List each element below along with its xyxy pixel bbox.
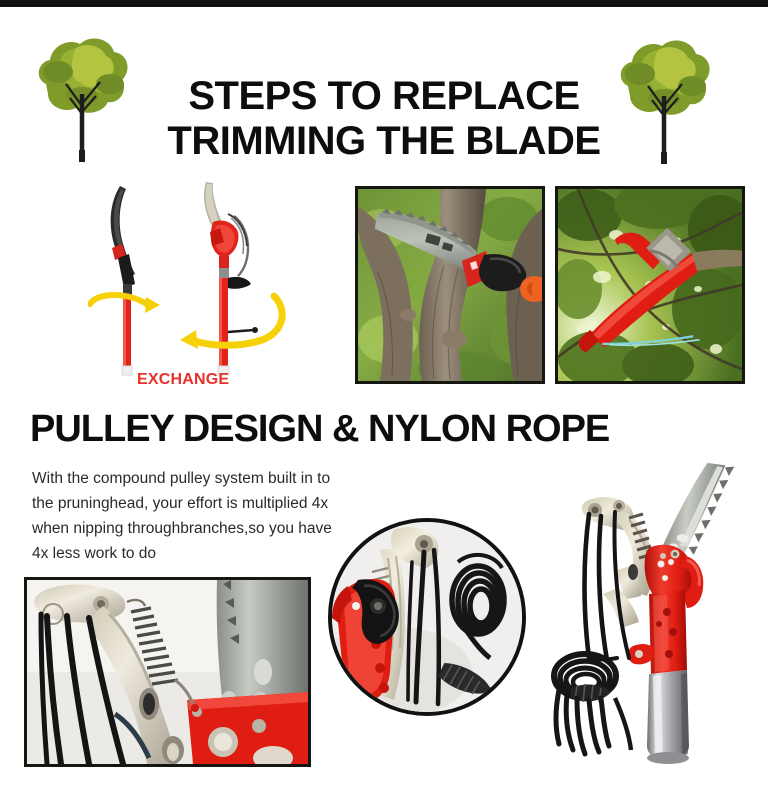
photo-saw-cutting-branch <box>355 186 545 384</box>
photo-pruner-in-canopy <box>555 186 745 384</box>
photo-pulley-closeup <box>24 577 311 767</box>
tool-before <box>90 186 160 375</box>
page-title: STEPS TO REPLACE TRIMMING THE BLADE <box>0 74 768 164</box>
photo-circle-rope-head <box>328 518 526 716</box>
title-line-2: TRIMMING THE BLADE <box>0 119 768 164</box>
infographic-page: STEPS TO REPLACE TRIMMING THE BLADE <box>0 0 768 793</box>
title-line-1: STEPS TO REPLACE <box>0 74 768 119</box>
hero-product-image <box>545 462 767 780</box>
tool-after <box>180 182 282 375</box>
section-heading-pulley: PULLEY DESIGN & NYLON ROPE <box>30 407 609 451</box>
pulley-description: With the compound pulley system built in… <box>32 466 332 566</box>
exchange-label: EXCHANGE <box>137 371 229 389</box>
step-exchange-diagram <box>88 180 303 380</box>
top-black-bar <box>0 0 768 7</box>
